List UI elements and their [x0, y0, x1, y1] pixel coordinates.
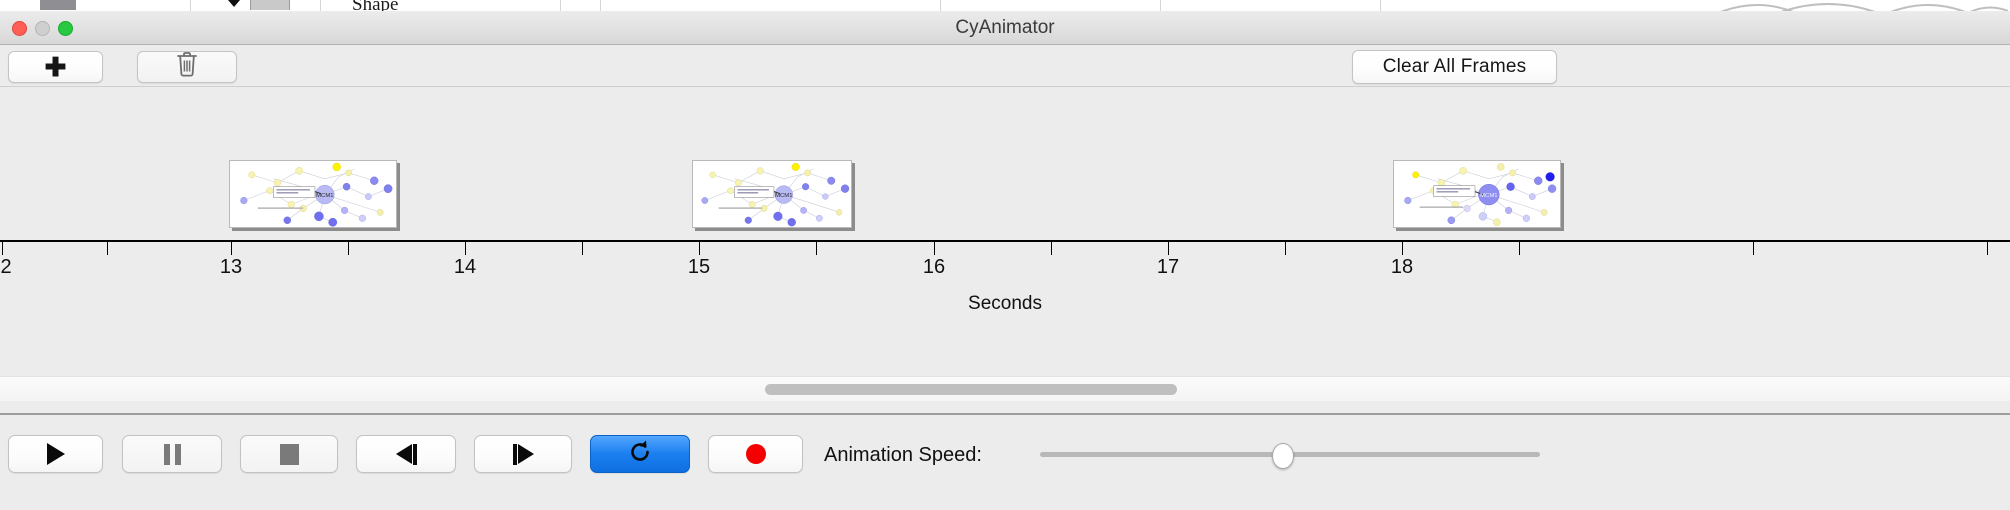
next-frame-button[interactable] [474, 435, 572, 473]
slider-thumb[interactable] [1272, 443, 1294, 469]
skip-back-icon [396, 444, 417, 465]
background-divider [320, 0, 321, 11]
plus-icon: ✚ [45, 54, 67, 80]
axis-tick [699, 242, 700, 255]
axis-tick-label: 13 [220, 256, 242, 279]
axis-tick [465, 242, 466, 255]
axis-tick-minor [1285, 242, 1286, 255]
axis-tick [231, 242, 232, 255]
axis-tick [2, 242, 3, 255]
cyanimator-window: Shape CyAnimator ✚ [0, 0, 2010, 510]
trash-icon [176, 51, 198, 83]
axis-tick-minor [582, 242, 583, 255]
background-cursor-icon [228, 0, 240, 7]
background-divider [1380, 0, 1381, 11]
axis-tick-minor [816, 242, 817, 255]
previous-frame-button[interactable] [356, 435, 456, 473]
axis-tick-minor [1519, 242, 1520, 255]
axis-tick-label: 14 [454, 256, 476, 279]
background-divider [600, 0, 601, 11]
toolbar: ✚ Clear All Frames [0, 45, 2010, 87]
pause-icon [164, 444, 181, 465]
axis-tick [1168, 242, 1169, 255]
title-bar: CyAnimator [0, 11, 2010, 45]
axis-title: Seconds [0, 293, 2010, 315]
axis-tick [934, 242, 935, 255]
scrollbar-thumb[interactable] [765, 384, 1177, 395]
play-button[interactable] [8, 435, 103, 473]
axis-tick-label: 18 [1391, 256, 1413, 279]
delete-frame-button[interactable] [137, 51, 237, 83]
axis-tick [1402, 242, 1403, 255]
background-divider [190, 0, 191, 11]
axis-tick-label: 16 [923, 256, 945, 279]
stop-button[interactable] [240, 435, 338, 473]
background-scroll-thumb [250, 0, 290, 10]
keyframe-track[interactable]: MCM1 [0, 88, 2010, 240]
axis-tick-minor [1051, 242, 1052, 255]
axis-tick-label: 15 [688, 256, 710, 279]
svg-text:MCM1: MCM1 [1480, 193, 1497, 199]
stop-icon [280, 444, 299, 465]
axis-tick-label: 17 [1157, 256, 1179, 279]
window-title: CyAnimator [0, 11, 2010, 45]
playback-control-bar: Animation Speed: [0, 413, 2010, 510]
play-icon [47, 443, 65, 465]
background-divider [940, 0, 941, 11]
skip-forward-icon [513, 444, 534, 465]
animation-speed-slider[interactable] [1040, 435, 1540, 473]
record-icon [746, 444, 766, 464]
axis-tick-minor [348, 242, 349, 255]
background-tab [40, 0, 76, 10]
axis-tick-minor [1987, 242, 1988, 255]
timeline-scrollbar[interactable] [0, 376, 2010, 401]
add-frame-button[interactable]: ✚ [8, 51, 103, 83]
axis-tick-label: 2 [0, 256, 11, 279]
loop-icon [627, 439, 653, 470]
timeline-axis [0, 240, 2010, 242]
keyframe-thumbnail[interactable]: MCM1 [1393, 160, 1561, 228]
background-divider [560, 0, 561, 11]
record-button[interactable] [708, 435, 803, 473]
keyframe-thumbnail[interactable]: MCM1 [229, 160, 397, 228]
timeline-panel: MCM1 [0, 88, 2010, 413]
clear-all-frames-button[interactable]: Clear All Frames [1352, 50, 1557, 84]
svg-text:MCM1: MCM1 [316, 193, 333, 199]
pause-button[interactable] [122, 435, 222, 473]
background-divider [1160, 0, 1161, 11]
keyframe-thumbnail[interactable]: MCM1 [692, 160, 852, 228]
svg-text:MCM1: MCM1 [775, 193, 792, 199]
animation-speed-label: Animation Speed: [824, 444, 982, 467]
axis-tick-minor [1753, 242, 1754, 255]
axis-tick-minor [107, 242, 108, 255]
loop-button[interactable] [590, 435, 690, 473]
